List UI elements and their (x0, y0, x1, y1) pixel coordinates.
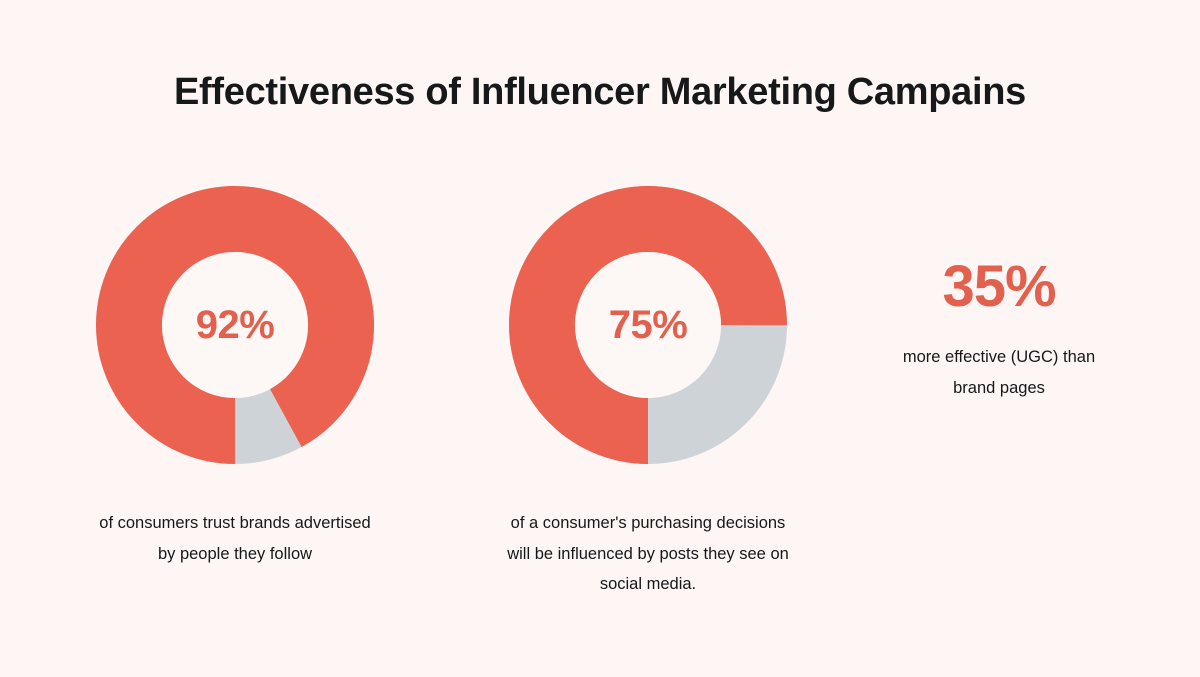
donut-chart-92-svg (90, 180, 380, 470)
donut-92-caption-line-1: of consumers trust brands advertised (50, 508, 420, 539)
donut-75-caption-line-3: social media. (458, 569, 838, 600)
donut-75-caption-line-2: will be influenced by posts they see on (458, 539, 838, 570)
stat-35-caption: more effective (UGC) than brand pages (868, 342, 1130, 403)
donut-chart-92: 92% (90, 180, 380, 470)
donut-chart-75: 75% (503, 180, 793, 470)
donut-92-caption-line-2: by people they follow (50, 539, 420, 570)
stat-35-number: 35% (868, 258, 1130, 316)
donut-92-hole (162, 252, 308, 398)
donut-75-caption: of a consumer's purchasing decisions wil… (458, 508, 838, 600)
stat-35-caption-line-2: brand pages (868, 373, 1130, 404)
donut-75-caption-line-1: of a consumer's purchasing decisions (458, 508, 838, 539)
page-title: Effectiveness of Influencer Marketing Ca… (0, 72, 1200, 114)
stat-panel-ugc-effectiveness: 35% more effective (UGC) than brand page… (868, 258, 1130, 403)
stat-panel-purchasing-decisions: 75% of a consumer's purchasing decisions… (453, 180, 843, 600)
donut-92-caption: of consumers trust brands advertised by … (50, 508, 420, 569)
stat-panel-consumer-trust: 92% of consumers trust brands advertised… (40, 180, 430, 569)
stat-35-caption-line-1: more effective (UGC) than (868, 342, 1130, 373)
donut-chart-75-svg (503, 180, 793, 470)
donut-75-hole (575, 252, 721, 398)
infographic-canvas: Effectiveness of Influencer Marketing Ca… (0, 0, 1200, 677)
